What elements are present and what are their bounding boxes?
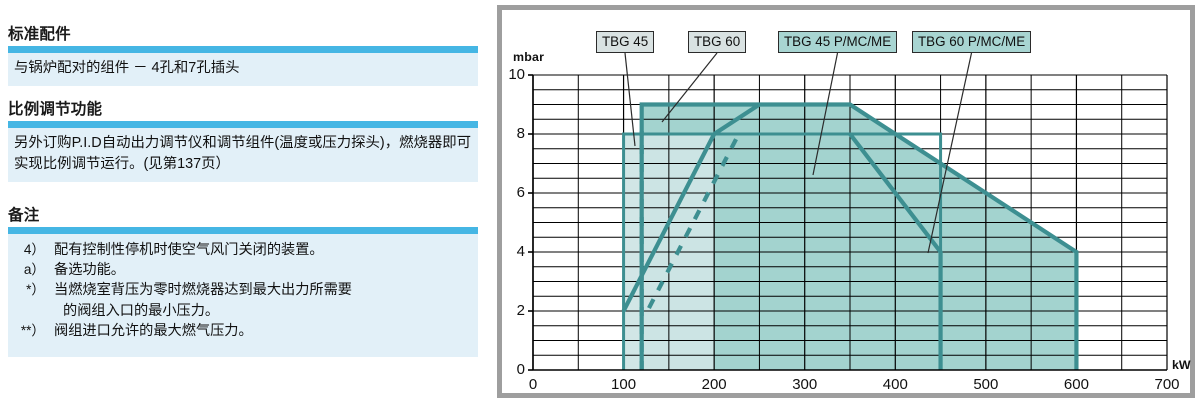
section-body: 另外订购P.I.D自动出力调节仪和调节组件(温度或压力探头)，燃烧器即可实现比例… <box>8 128 478 182</box>
section-body: 与锅炉配对的组件 － 4孔和7孔插头 <box>8 53 478 86</box>
section-standard-accessories: 标准配件 与锅炉配对的组件 － 4孔和7孔插头 <box>8 26 478 86</box>
left-text-column: 标准配件 与锅炉配对的组件 － 4孔和7孔插头 比例调节功能 另外订购P.I.D… <box>0 0 480 403</box>
section-title: 标准配件 <box>8 26 478 46</box>
chart-panel: mbar kW 01002003004005006007000246810 TB… <box>497 5 1195 398</box>
section-title: 比例调节功能 <box>8 101 478 121</box>
note-continuation: 的阀组入口的最小压力。 <box>14 301 472 321</box>
chart-callout-3: TBG 45 P/MC/ME <box>778 31 897 53</box>
note-text: 备选功能。 <box>54 260 472 280</box>
callout-leader-lines <box>502 10 1190 393</box>
section-notes: 备注 4） 配有控制性停机时使空气风门关闭的装置。 a） 备选功能。 *） 当燃… <box>8 207 478 357</box>
note-item: 4） 配有控制性停机时使空气风门关闭的装置。 <box>14 240 472 260</box>
chart-inner: mbar kW 01002003004005006007000246810 TB… <box>502 10 1190 393</box>
chart-callout-4: TBG 60 P/MC/ME <box>912 31 1031 53</box>
note-item: a） 备选功能。 <box>14 260 472 280</box>
note-text: 阀组进口允许的最大燃气压力。 <box>54 321 472 341</box>
section-accent-bar <box>8 46 478 53</box>
section-accent-bar <box>8 121 478 128</box>
chart-callout-2: TBG 60 <box>688 31 746 53</box>
note-marker: **） <box>14 321 54 340</box>
section-accent-bar <box>8 227 478 234</box>
note-text: 当燃烧室背压为零时燃烧器达到最大出力所需要 <box>54 280 472 300</box>
note-marker: a） <box>14 260 54 279</box>
note-item: *） 当燃烧室背压为零时燃烧器达到最大出力所需要 <box>14 280 472 300</box>
notes-body: 4） 配有控制性停机时使空气风门关闭的装置。 a） 备选功能。 *） 当燃烧室背… <box>8 234 478 357</box>
note-marker: *） <box>14 280 54 299</box>
note-item: **） 阀组进口允许的最大燃气压力。 <box>14 321 472 341</box>
chart-callout-1: TBG 45 <box>596 31 654 53</box>
section-title: 备注 <box>8 207 478 227</box>
page-root: 标准配件 与锅炉配对的组件 － 4孔和7孔插头 比例调节功能 另外订购P.I.D… <box>0 0 1200 403</box>
section-modulating-function: 比例调节功能 另外订购P.I.D自动出力调节仪和调节组件(温度或压力探头)，燃烧… <box>8 101 478 182</box>
note-text: 配有控制性停机时使空气风门关闭的装置。 <box>54 240 472 260</box>
note-marker: 4） <box>14 240 54 259</box>
